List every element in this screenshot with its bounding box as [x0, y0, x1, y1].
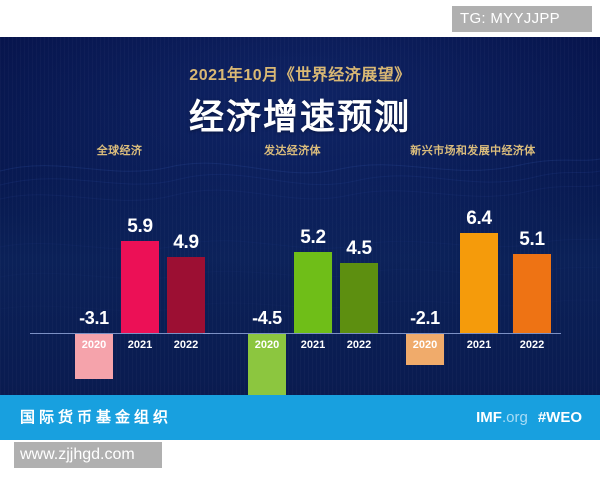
year-label-global-2020: 2020: [75, 339, 113, 351]
value-label-emerging-2021: 6.4: [447, 208, 511, 230]
value-label-global-2020: -3.1: [62, 308, 126, 329]
bar-global-2021: [121, 241, 159, 333]
footer-links: IMF.org#WEO: [476, 395, 582, 440]
bar-set-advanced: -4.5 2020 5.2 2021 4.5 2022: [195, 142, 390, 395]
bar-emerging-2022: [513, 254, 551, 333]
bar-set-emerging: -2.1 2020 6.4 2021 5.1 2022: [368, 142, 578, 395]
page-title: 经济增速预测: [0, 89, 600, 140]
bar-advanced-2021: [294, 252, 332, 333]
chart-group-emerging: 新兴市场和发展中经济体 -2.1 2020 6.4 2021 5.1 2022: [368, 142, 578, 395]
poster-canvas: 2021年10月《世界经济展望》 经济增速预测 全球经济 -3.1 2020 5…: [0, 37, 600, 395]
bar-emerging-2021: [460, 233, 498, 333]
value-label-emerging-2022: 5.1: [500, 229, 564, 251]
bar-set-global: -3.1 2020 5.9 2021 4.9 2022: [22, 142, 217, 395]
value-label-emerging-2020: -2.1: [393, 308, 457, 329]
chart-group-advanced: 发达经济体 -4.5 2020 5.2 2021 4.5 2022: [195, 142, 390, 395]
imf-brand: IMF: [476, 409, 502, 426]
year-label-emerging-2021: 2021: [460, 339, 498, 351]
year-label-emerging-2022: 2022: [513, 339, 551, 351]
footer-organization-name: 国际货币基金组织: [20, 395, 172, 440]
value-label-advanced-2020: -4.5: [235, 308, 299, 329]
telegram-watermark: TG: MYYJJPP: [452, 6, 592, 32]
grouped-bar-chart: 全球经济 -3.1 2020 5.9 2021 4.9 2022 发达经济体: [0, 142, 600, 395]
year-label-global-2021: 2021: [121, 339, 159, 351]
report-subtitle: 2021年10月《世界经济展望》: [0, 61, 600, 85]
footer-bar: 国际货币基金组织 IMF.org#WEO: [0, 395, 600, 440]
year-label-emerging-2020: 2020: [406, 339, 444, 351]
year-label-advanced-2021: 2021: [294, 339, 332, 351]
chart-group-global: 全球经济 -3.1 2020 5.9 2021 4.9 2022: [22, 142, 217, 395]
weo-hashtag: #WEO: [538, 409, 582, 426]
site-watermark: www.zjjhgd.com: [14, 442, 162, 468]
year-label-advanced-2020: 2020: [248, 339, 286, 351]
imf-tld: .org: [502, 409, 528, 426]
